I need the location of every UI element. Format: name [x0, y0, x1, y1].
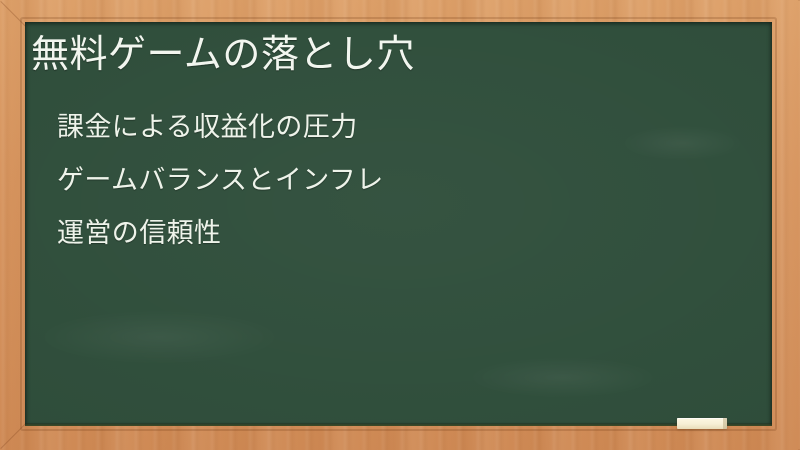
- slide-title: 無料ゲームの落とし穴: [31, 31, 415, 77]
- chalk-stick: [677, 418, 727, 429]
- list-item: 課金による収益化の圧力: [57, 114, 384, 141]
- list-item: 運営の信頼性: [57, 220, 384, 247]
- chalk-stick-end: [723, 418, 727, 429]
- chalkboard-slide: 無料ゲームの落とし穴 課金による収益化の圧力 ゲームバランスとインフレ 運営の信…: [0, 0, 800, 450]
- slide-content: 無料ゲームの落とし穴 課金による収益化の圧力 ゲームバランスとインフレ 運営の信…: [25, 22, 772, 426]
- slide-bullet-list: 課金による収益化の圧力 ゲームバランスとインフレ 運営の信頼性: [57, 114, 384, 247]
- list-item: ゲームバランスとインフレ: [57, 167, 384, 194]
